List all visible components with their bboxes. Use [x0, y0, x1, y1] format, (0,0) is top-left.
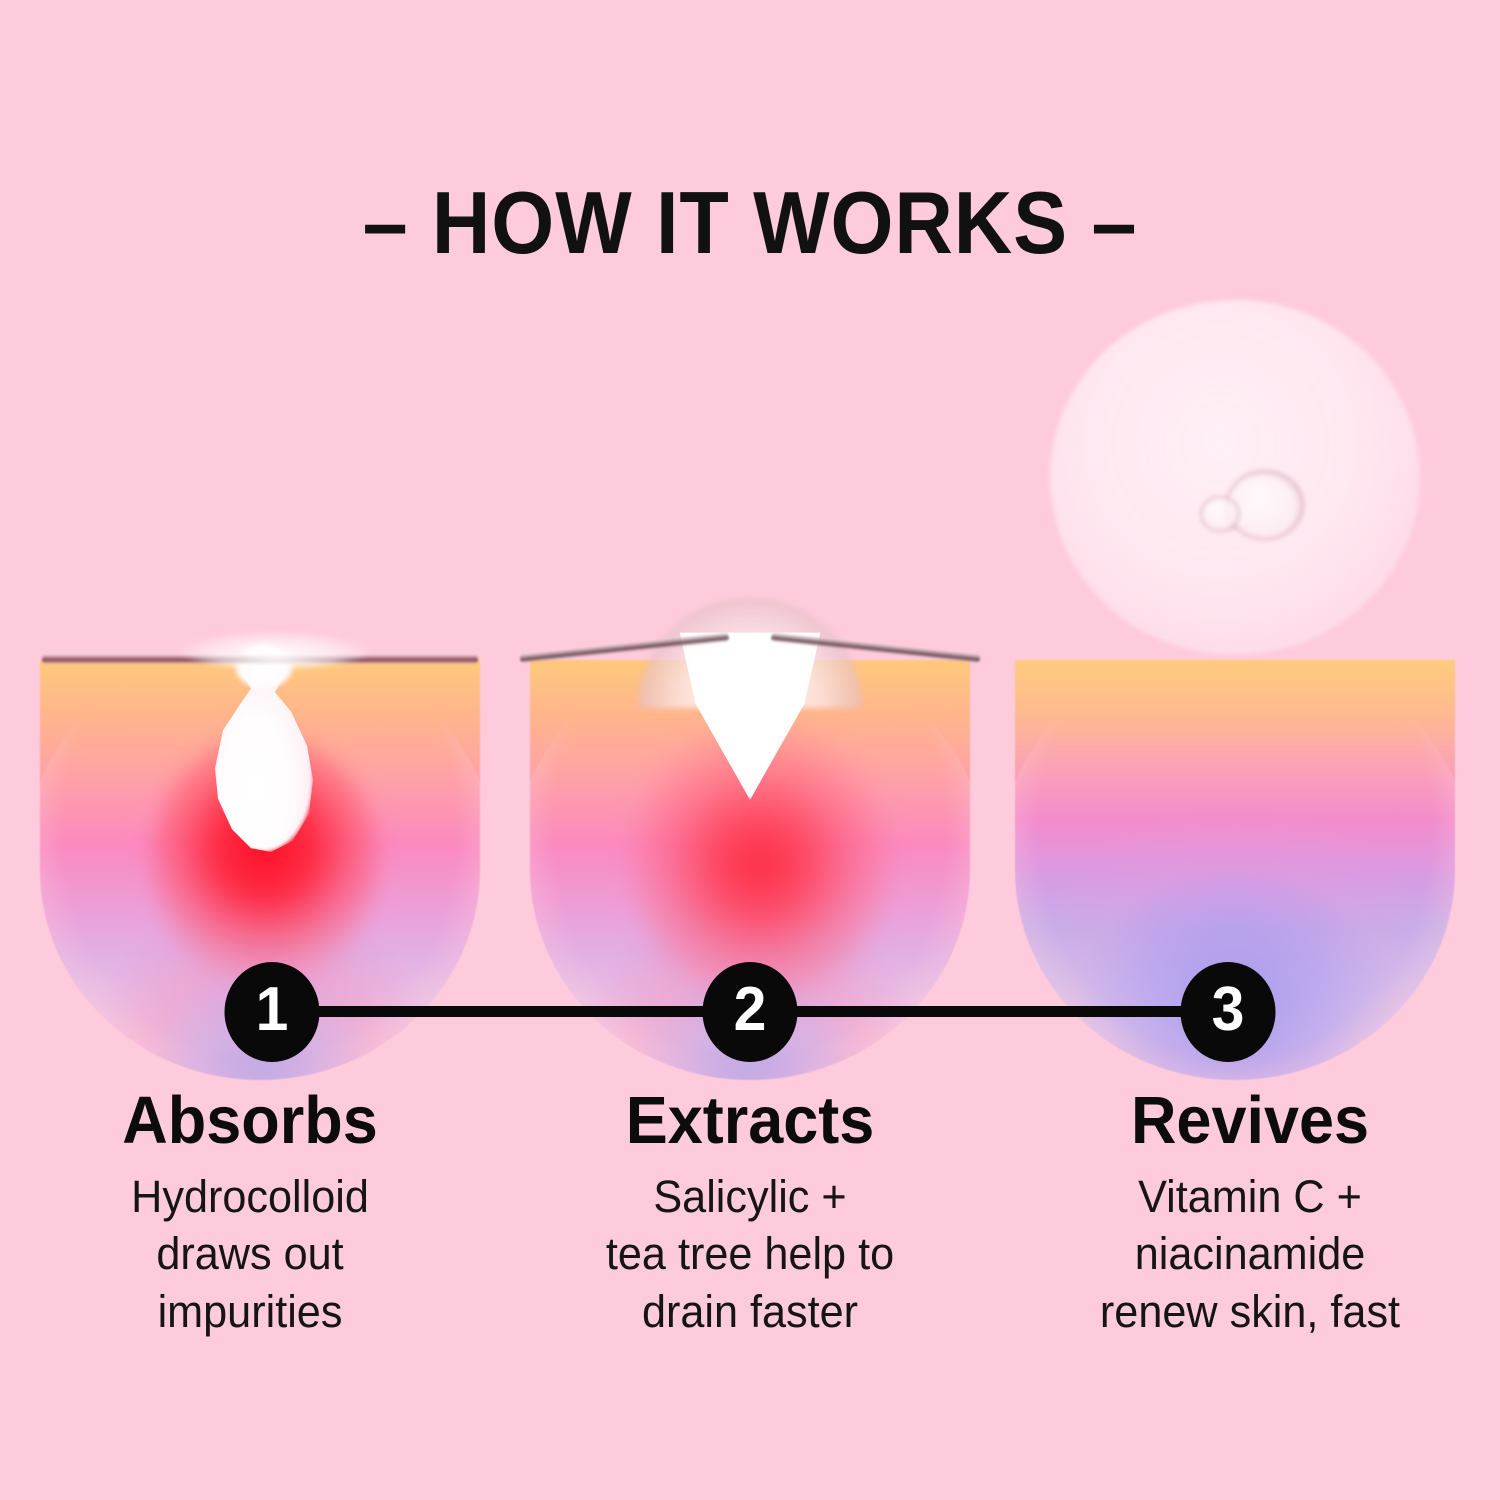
step-number-3: 3: [1212, 979, 1245, 1041]
caption-column-3: Revives Vitamin C + niacinamide renew sk…: [1000, 1086, 1500, 1340]
caption-body-3: Vitamin C + niacinamide renew skin, fast: [1010, 1168, 1490, 1341]
illustration-row: [0, 0, 1500, 930]
caption-body-2: Salicylic + tea tree help to drain faste…: [510, 1168, 990, 1341]
caption-heading-3: Revives: [1015, 1086, 1485, 1156]
blob-small: [1200, 496, 1240, 532]
caption-heading-1: Absorbs: [15, 1086, 485, 1156]
caption-row: Absorbs Hydrocolloid draws out impuritie…: [0, 1086, 1500, 1340]
step-number-1: 1: [256, 979, 289, 1041]
caption-body-1: Hydrocolloid draws out impurities: [10, 1168, 490, 1341]
step-marker-2[interactable]: 2: [703, 962, 798, 1062]
step-marker-3[interactable]: 3: [1181, 962, 1276, 1062]
illustration-step-1: [30, 280, 490, 900]
captured-impurity-icon: [1200, 470, 1304, 536]
caption-column-1: Absorbs Hydrocolloid draws out impuritie…: [0, 1086, 500, 1340]
infographic-page: – HOW IT WORKS –: [0, 0, 1500, 1500]
caption-column-2: Extracts Salicylic + tea tree help to dr…: [500, 1086, 1000, 1340]
step-track: 1 2 3: [0, 962, 1500, 1066]
used-patch-icon: [1050, 300, 1420, 655]
illustration-step-3: [1005, 280, 1465, 900]
step-number-2: 2: [734, 979, 767, 1041]
step-marker-1[interactable]: 1: [225, 962, 320, 1062]
caption-heading-2: Extracts: [515, 1086, 985, 1156]
illustration-step-2: [520, 280, 980, 900]
patch-gloss-icon: [180, 632, 370, 668]
